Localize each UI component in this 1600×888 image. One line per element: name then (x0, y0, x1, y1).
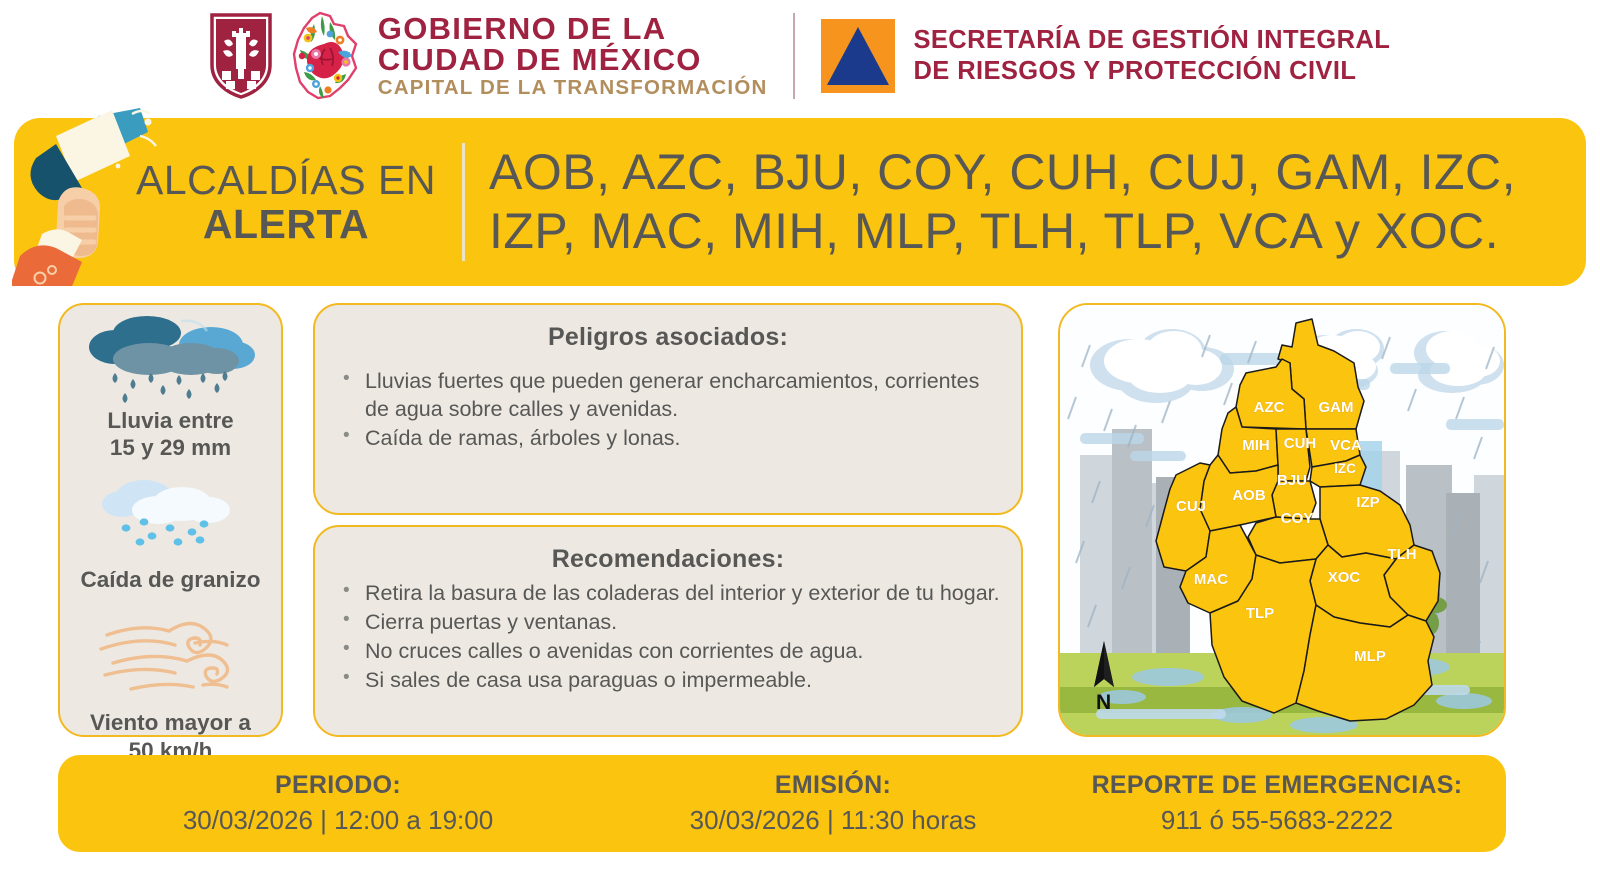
hail-cloud-icon (96, 472, 246, 552)
hazard-rain-line1: Lluvia entre (107, 407, 233, 434)
map-label-BJU: BJU (1277, 472, 1307, 489)
map-label-MAC: MAC (1194, 571, 1228, 588)
agency-line-1: SECRETARÍA DE GESTIÓN INTEGRAL (913, 25, 1390, 56)
footer-periodo-value: 30/03/2026 | 12:00 a 19:00 (58, 804, 618, 837)
recommendations-panel-list: Retira la basura de las coladeras del in… (315, 580, 1021, 695)
compass-label: N (1096, 691, 1111, 714)
hazards-sidebar: Lluvia entre 15 y 29 mm (58, 303, 283, 737)
footer-emision-label: EMISIÓN: (618, 770, 1048, 802)
government-title: GOBIERNO DE LA CIUDAD DE MÉXICO CAPITAL … (378, 13, 768, 99)
civil-protection-triangle-icon (821, 19, 895, 93)
agency-logo-block: SECRETARÍA DE GESTIÓN INTEGRAL DE RIESGO… (821, 19, 1390, 93)
footer-emergencias: REPORTE DE EMERGENCIAS: 911 ó 55-5683-22… (1048, 770, 1506, 837)
map-label-IZP: IZP (1356, 494, 1379, 511)
map-label-TLP: TLP (1246, 605, 1274, 622)
map-label-AZC: AZC (1254, 399, 1285, 416)
government-logo-block: GOBIERNO DE LA CIUDAD DE MÉXICO CAPITAL … (210, 10, 768, 102)
hazard-hail-line1: Caída de granizo (80, 566, 260, 593)
list-item: Caída de ramas, árboles y lonas. (333, 425, 1007, 453)
footer-periodo: PERIODO: 30/03/2026 | 12:00 a 19:00 (58, 770, 618, 837)
map-label-MIH: MIH (1242, 437, 1270, 454)
map-label-CUJ: CUJ (1176, 498, 1206, 515)
cdmx-heart-emblem-icon (286, 10, 364, 102)
hazards-panel-title: Peligros asociados: (315, 323, 1021, 352)
agency-title: SECRETARÍA DE GESTIÓN INTEGRAL DE RIESGO… (913, 25, 1390, 87)
agency-line-2: DE RIESGOS Y PROTECCIÓN CIVIL (913, 56, 1390, 87)
recommendations-panel-title: Recomendaciones: (315, 545, 1021, 574)
page-header: GOBIERNO DE LA CIUDAD DE MÉXICO CAPITAL … (0, 0, 1600, 112)
list-item: Retira la basura de las coladeras del in… (333, 580, 1007, 608)
boroughs-line-2: IZP, MAC, MIH, MLP, TLH, TLP, VCA y XOC. (489, 202, 1568, 261)
alert-infographic: GOBIERNO DE LA CIUDAD DE MÉXICO CAPITAL … (0, 0, 1600, 888)
map-label-GAM: GAM (1319, 399, 1354, 416)
cdmx-shield-icon (210, 13, 272, 99)
map-label-XOC: XOC (1328, 569, 1361, 586)
map-label-CUH: CUH (1284, 435, 1317, 452)
rain-cloud-icon (85, 313, 257, 405)
footer-emision: EMISIÓN: 30/03/2026 | 11:30 horas (618, 770, 1048, 837)
alert-boroughs-list: AOB, AZC, BJU, COY, CUH, CUJ, GAM, IZC, … (465, 143, 1586, 261)
hazard-item-rain: Lluvia entre 15 y 29 mm (60, 313, 281, 462)
boroughs-line-1: AOB, AZC, BJU, COY, CUH, CUJ, GAM, IZC, (489, 143, 1568, 202)
list-item: Cierra puertas y ventanas. (333, 609, 1007, 637)
hazard-item-hail: Caída de granizo (60, 472, 281, 593)
map-label-AOB: AOB (1232, 487, 1266, 504)
hazard-rain-line2: 15 y 29 mm (107, 434, 233, 461)
footer-emision-value: 30/03/2026 | 11:30 horas (618, 804, 1048, 837)
gob-line-1: GOBIERNO DE LA (378, 13, 768, 44)
cdmx-alert-map: AZC GAM MIH CUH VCA IZC BJU AOB CUJ IZP … (1058, 303, 1506, 737)
hazard-wind-line1: Viento mayor a (90, 709, 251, 736)
footer-emergencias-value: 911 ó 55-5683-2222 (1048, 804, 1506, 837)
footer-emergencias-label: REPORTE DE EMERGENCIAS: (1048, 770, 1506, 802)
gob-line-2: CIUDAD DE MÉXICO (378, 44, 768, 75)
map-label-IZC: IZC (1334, 461, 1356, 476)
alert-separator (462, 143, 465, 261)
associated-hazards-panel: Peligros asociados: Lluvias fuertes que … (313, 303, 1023, 515)
recommendations-panel: Recomendaciones: Retira la basura de las… (313, 525, 1023, 737)
alert-banner: ALCALDÍAS EN ALERTA AOB, AZC, BJU, COY, … (14, 118, 1586, 286)
map-svg: AZC GAM MIH CUH VCA IZC BJU AOB CUJ IZP … (1060, 305, 1504, 735)
hazard-rain-label: Lluvia entre 15 y 29 mm (107, 407, 233, 462)
hazard-hail-label: Caída de granizo (80, 566, 260, 593)
map-label-MLP: MLP (1354, 648, 1386, 665)
wind-icon (91, 605, 251, 703)
map-label-VCA: VCA (1330, 437, 1362, 454)
list-item: Si sales de casa usa paraguas o impermea… (333, 667, 1007, 695)
map-label-TLH: TLH (1387, 546, 1416, 563)
gob-subtitle: CAPITAL DE LA TRANSFORMACIÓN (378, 78, 768, 99)
header-divider (793, 13, 795, 99)
hazards-panel-list: Lluvias fuertes que pueden generar encha… (315, 368, 1021, 453)
hazard-item-wind: Viento mayor a 50 km/h (60, 605, 281, 764)
list-item: Lluvias fuertes que pueden generar encha… (333, 368, 1007, 424)
footer-bar: PERIODO: 30/03/2026 | 12:00 a 19:00 EMIS… (58, 755, 1506, 852)
megaphone-icon (12, 106, 172, 286)
list-item: No cruces calles o avenidas con corrient… (333, 638, 1007, 666)
footer-periodo-label: PERIODO: (58, 770, 618, 802)
map-label-COY: COY (1281, 510, 1314, 527)
